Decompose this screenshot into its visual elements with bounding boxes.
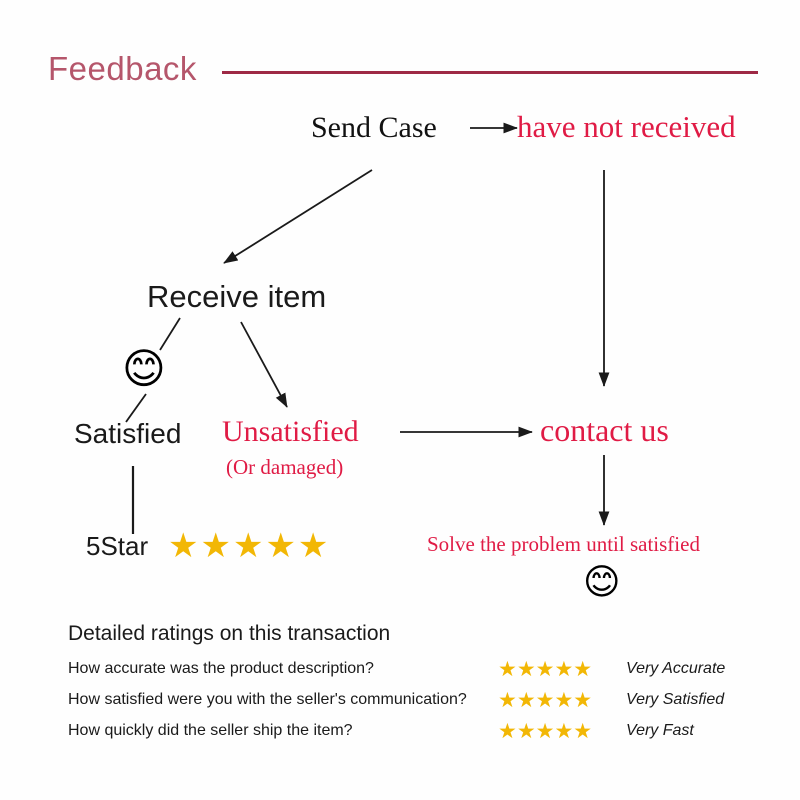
node-send-case: Send Case [311, 111, 437, 145]
rating-question: How accurate was the product description… [68, 660, 498, 678]
page-title: Feedback [48, 50, 197, 88]
node-have-not-received: have not received [517, 109, 736, 145]
rating-question: How quickly did the seller ship the item… [68, 722, 498, 740]
node-contact-us: contact us [540, 412, 669, 449]
rating-question: How satisfied were you with the seller's… [68, 691, 498, 709]
node-solve-the-problem: Solve the problem until satisfied [427, 532, 700, 557]
rating-stars-icon: ★★★★★ [498, 719, 626, 743]
node-or-damaged: (Or damaged) [226, 455, 343, 480]
table-row: How satisfied were you with the seller's… [68, 684, 758, 715]
five-star-label: 5Star [86, 531, 148, 562]
rating-label: Very Satisfied [626, 691, 724, 709]
detailed-ratings-title: Detailed ratings on this transaction [68, 622, 390, 646]
header-divider-line [222, 71, 758, 74]
five-star-rating-icon: ★★★★★ [168, 526, 330, 566]
rating-stars-icon: ★★★★★ [498, 657, 626, 681]
rating-stars-icon: ★★★★★ [498, 688, 626, 712]
rating-label: Very Fast [626, 722, 694, 740]
table-row: How accurate was the product description… [68, 653, 758, 684]
feedback-infographic: Feedback Send Case have not received Rec… [0, 0, 800, 800]
smiling-face-icon-solve: 😊 [583, 565, 621, 601]
detailed-ratings-table: How accurate was the product description… [68, 653, 758, 746]
arrow-receiveitem-to-unsatisfied [241, 322, 287, 407]
node-unsatisfied: Unsatisfied [222, 415, 359, 449]
node-satisfied: Satisfied [74, 418, 181, 450]
table-row: How quickly did the seller ship the item… [68, 715, 758, 746]
rating-label: Very Accurate [626, 660, 725, 678]
smiling-face-icon: 😊 [122, 348, 166, 390]
node-receive-item: Receive item [147, 279, 326, 315]
arrow-sendcase-to-receiveitem [224, 170, 372, 263]
